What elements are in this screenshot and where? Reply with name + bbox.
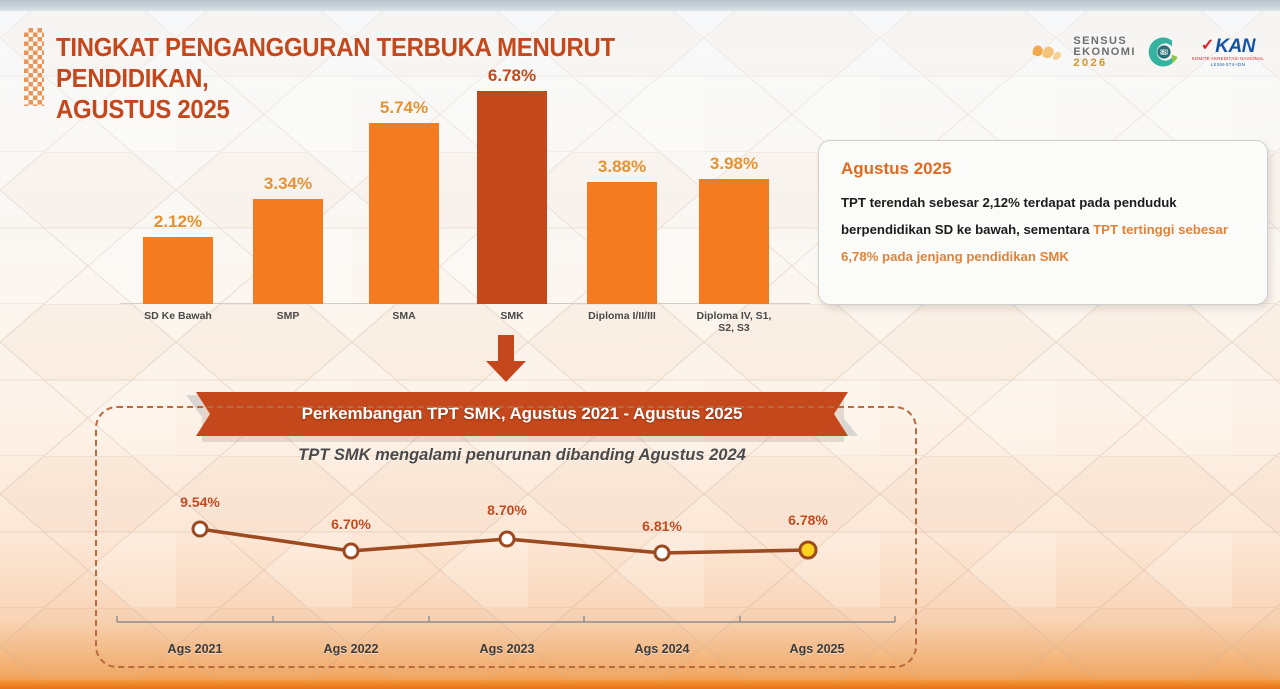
top-border-band	[0, 0, 1280, 11]
bar-value-1: 3.34%	[252, 174, 324, 194]
sensus-line1: SENSUS	[1073, 36, 1135, 47]
bar-chart: 2.12% SD Ke Bawah 3.34% SMP 5.74% SMA 6.…	[120, 95, 810, 345]
line-category-2: Ags 2023	[447, 642, 567, 656]
checkered-decoration	[24, 28, 44, 106]
bar-rect-5	[699, 179, 769, 304]
bar-rect-2	[369, 123, 439, 304]
down-arrow-icon	[484, 335, 528, 383]
bar-label-0: SD Ke Bawah	[136, 310, 220, 322]
bar-value-0: 2.12%	[142, 212, 214, 232]
bar-rect-4	[587, 182, 657, 304]
kan-subtitle-2: LSSM-074-IDN	[1192, 63, 1264, 67]
bar-group-3: 6.78% SMK	[476, 91, 548, 304]
line-category-3: Ags 2024	[602, 642, 722, 656]
bar-group-2: 5.74% SMA	[368, 123, 440, 304]
bar-rect-0	[143, 237, 213, 304]
bar-value-4: 3.88%	[586, 157, 658, 177]
bar-label-2: SMA	[362, 310, 446, 322]
bar-group-5: 3.98% Diploma IV, S1, S2, S3	[698, 179, 770, 304]
bar-value-5: 3.98%	[698, 154, 770, 174]
bar-value-3: 6.78%	[476, 66, 548, 86]
bar-group-4: 3.88% Diploma I/II/III	[586, 182, 658, 304]
sensus-line3: 2026	[1073, 58, 1135, 69]
bps-c-logo-icon: CB	[1146, 34, 1182, 70]
line-value-1: 6.70%	[306, 516, 396, 532]
bar-rect-3	[477, 91, 547, 304]
bar-value-2: 5.74%	[368, 98, 440, 118]
callout-card: Agustus 2025 TPT terendah sebesar 2,12% …	[818, 140, 1268, 305]
bar-label-1: SMP	[246, 310, 330, 322]
line-value-2: 8.70%	[462, 502, 552, 518]
bar-rect-1	[253, 199, 323, 304]
line-category-1: Ags 2022	[291, 642, 411, 656]
bar-group-1: 3.34% SMP	[252, 199, 324, 304]
bar-group-0: 2.12% SD Ke Bawah	[142, 237, 214, 304]
callout-title: Agustus 2025	[841, 159, 1245, 179]
logo-group: SENSUS EKONOMI 2026 CB ✓ KAN KOMITE AKRE…	[1029, 30, 1264, 74]
kan-logo: ✓ KAN KOMITE AKREDITASI NASIONAL LSSM-07…	[1192, 37, 1264, 68]
bar-label-5: Diploma IV, S1, S2, S3	[692, 310, 776, 334]
line-value-4: 6.78%	[763, 512, 853, 528]
sensus-swirl-icon	[1029, 37, 1063, 67]
svg-text:CB: CB	[1160, 50, 1168, 56]
callout-body: TPT terendah sebesar 2,12% terdapat pada…	[841, 189, 1245, 270]
line-value-3: 6.81%	[617, 518, 707, 534]
sensus-line2: EKONOMI	[1073, 47, 1135, 58]
kan-subtitle-1: KOMITE AKREDITASI NASIONAL	[1192, 57, 1264, 61]
infographic-canvas: TINGKAT PENGANGGURAN TERBUKA MENURUT PEN…	[0, 0, 1280, 689]
line-category-4: Ags 2025	[757, 642, 877, 656]
kan-check-icon: ✓	[1201, 38, 1214, 54]
kan-wordmark: KAN	[1215, 37, 1255, 56]
line-chart: 9.54% 6.70% 8.70% 6.81% 6.78% Ags 2021 A…	[95, 406, 917, 668]
line-chart-svg	[95, 406, 917, 668]
bar-label-3: SMK	[470, 310, 554, 322]
line-value-0: 9.54%	[155, 494, 245, 510]
bottom-border-band	[0, 680, 1280, 689]
sensus-ekonomi-wordmark: SENSUS EKONOMI 2026	[1073, 36, 1135, 69]
bar-label-4: Diploma I/II/III	[580, 310, 664, 322]
line-category-0: Ags 2021	[135, 642, 255, 656]
